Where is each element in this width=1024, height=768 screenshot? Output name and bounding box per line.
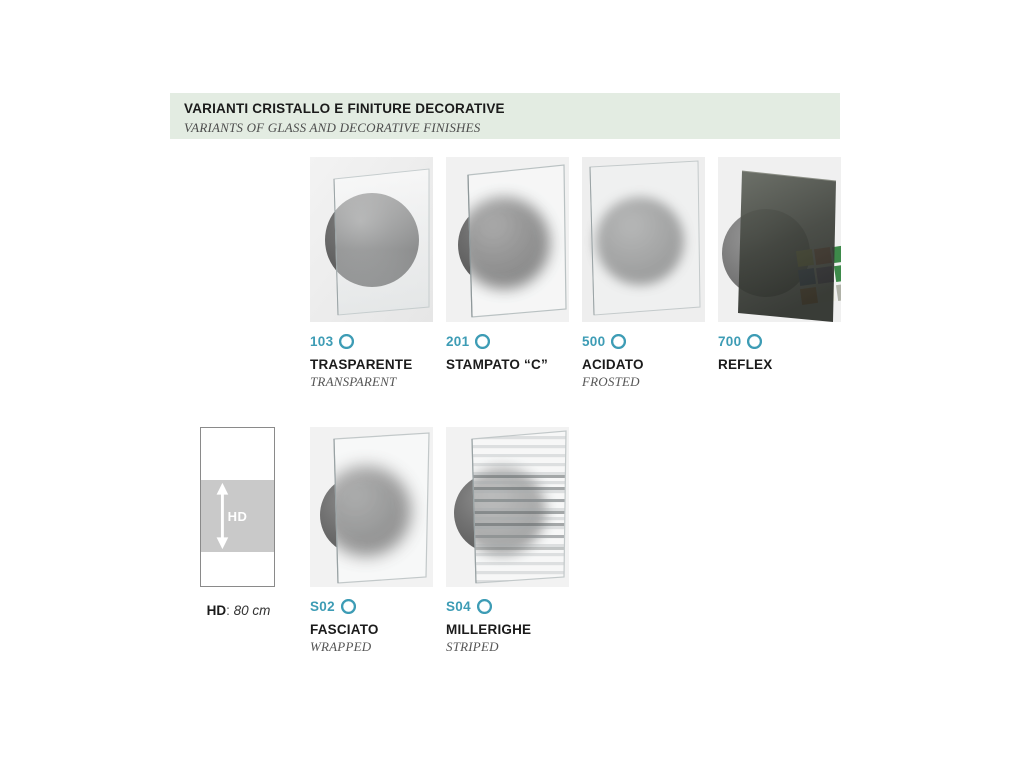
glass-variant-caption: 103 TRASPARENTE TRANSPARENT bbox=[310, 332, 433, 390]
glass-code: S02 bbox=[310, 599, 335, 614]
glass-code: S04 bbox=[446, 599, 471, 614]
wrapped-glass-sphere-photo bbox=[310, 427, 433, 587]
section-title-english: VARIANTS OF GLASS AND DECORATIVE FINISHE… bbox=[184, 119, 840, 136]
glass-variant-card-S04[interactable]: S04 MILLERIGHE STRIPED bbox=[446, 427, 569, 655]
hd-caption-key: HD bbox=[207, 603, 227, 618]
glass-variant-caption: 700 REFLEX bbox=[718, 332, 841, 373]
glass-variant-caption: S02 FASCIATO WRAPPED bbox=[310, 597, 433, 655]
hd-caption: HD: 80 cm bbox=[200, 603, 277, 618]
glass-variant-card-700[interactable]: 700 REFLEX bbox=[718, 157, 841, 374]
glass-code-line: 500 bbox=[582, 332, 705, 350]
stamped-glass-sphere-photo bbox=[446, 157, 569, 322]
glass-code: 201 bbox=[446, 334, 469, 349]
glass-finish-icon bbox=[475, 334, 490, 349]
hd-panel-outline: HD bbox=[200, 427, 275, 587]
glass-variant-card-500[interactable]: 500 ACIDATO FROSTED bbox=[582, 157, 705, 390]
glass-code-line: 103 bbox=[310, 332, 433, 350]
striped-glass-illustration bbox=[446, 427, 569, 587]
frosted-glass-sphere-photo bbox=[582, 157, 705, 322]
glass-name-italian: ACIDATO bbox=[582, 357, 705, 373]
glass-name-english: STRIPED bbox=[446, 639, 569, 655]
glass-code-line: S02 bbox=[310, 597, 433, 615]
section-header-band: VARIANTI CRISTALLO E FINITURE DECORATIVE… bbox=[170, 93, 840, 139]
glass-name-english: FROSTED bbox=[582, 374, 705, 390]
frosted-glass-illustration bbox=[582, 157, 705, 322]
hd-caption-value: 80 cm bbox=[234, 603, 271, 618]
glass-name-english: TRANSPARENT bbox=[310, 374, 433, 390]
glass-variant-caption: S04 MILLERIGHE STRIPED bbox=[446, 597, 569, 655]
glass-finish-icon bbox=[341, 599, 356, 614]
glass-name-italian: STAMPATO “C” bbox=[446, 357, 569, 373]
glass-code: 103 bbox=[310, 334, 333, 349]
reflex-glass-colorchart-photo bbox=[718, 157, 841, 322]
glass-finish-icon bbox=[611, 334, 626, 349]
glass-code: 500 bbox=[582, 334, 605, 349]
glass-name-english: WRAPPED bbox=[310, 639, 433, 655]
glass-finish-icon bbox=[747, 334, 762, 349]
glass-code: 700 bbox=[718, 334, 741, 349]
wrapped-glass-illustration bbox=[310, 427, 433, 587]
glass-variant-card-103[interactable]: 103 TRASPARENTE TRANSPARENT bbox=[310, 157, 433, 390]
hd-caption-separator: : bbox=[226, 603, 230, 618]
glass-finish-icon bbox=[339, 334, 354, 349]
glass-name-italian: REFLEX bbox=[718, 357, 841, 373]
striped-glass-sphere-photo bbox=[446, 427, 569, 587]
glass-variant-caption: 500 ACIDATO FROSTED bbox=[582, 332, 705, 390]
glass-name-italian: FASCIATO bbox=[310, 622, 433, 638]
stamped-glass-illustration bbox=[446, 157, 569, 322]
glass-code-line: 700 bbox=[718, 332, 841, 350]
glass-variant-caption: 201 STAMPATO “C” bbox=[446, 332, 569, 373]
glass-code-line: S04 bbox=[446, 597, 569, 615]
section-title-italian: VARIANTI CRISTALLO E FINITURE DECORATIVE bbox=[184, 100, 840, 117]
clear-glass-sphere-photo bbox=[310, 157, 433, 322]
clear-glass-illustration bbox=[310, 157, 433, 322]
hd-band-label: HD bbox=[201, 480, 274, 552]
reflex-glass-illustration bbox=[718, 157, 841, 322]
glass-variant-card-S02[interactable]: S02 FASCIATO WRAPPED bbox=[310, 427, 433, 655]
glass-variant-card-201[interactable]: 201 STAMPATO “C” bbox=[446, 157, 569, 374]
glass-finish-icon bbox=[477, 599, 492, 614]
glass-name-italian: TRASPARENTE bbox=[310, 357, 433, 373]
glass-code-line: 201 bbox=[446, 332, 569, 350]
hd-dimension-diagram: HD HD: 80 cm bbox=[200, 427, 277, 618]
glass-name-italian: MILLERIGHE bbox=[446, 622, 569, 638]
